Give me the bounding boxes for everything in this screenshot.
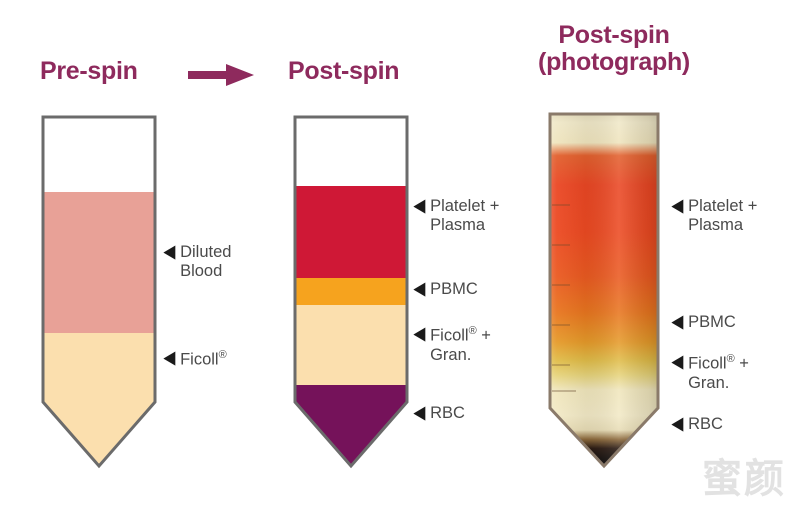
heading-photograph-line2: (photograph) <box>524 49 704 76</box>
left-triangle-marker-icon: ◀ <box>672 313 683 332</box>
layer-air-space <box>38 114 160 192</box>
watermark: 蜜颜 <box>702 446 786 504</box>
spin-arrow-icon <box>186 62 256 88</box>
callout-line-2: Blood <box>180 262 231 281</box>
registered-trademark-icon: ® <box>727 353 735 365</box>
heading-photograph-line1: Post-spin <box>558 21 669 49</box>
layer-diluted-blood <box>38 192 160 333</box>
pre-spin-tube <box>38 114 160 474</box>
callout-ficoll-text: Ficoll® <box>180 349 227 370</box>
callout-line-1: Ficoll <box>180 351 219 369</box>
left-triangle-marker-icon: ◀ <box>672 353 683 372</box>
callout-ficoll-gran: ◀ Ficoll® + Gran. <box>413 325 491 365</box>
left-triangle-marker-icon: ◀ <box>414 197 425 216</box>
callout-photo-platelet-plasma: ◀ Platelet + Plasma <box>671 197 757 236</box>
callout-photo-platelet-plasma-text: Platelet + Plasma <box>688 197 757 236</box>
registered-trademark-icon: ® <box>219 349 227 361</box>
callout-line-1: Ficoll <box>430 327 469 345</box>
callout-line-1: PBMC <box>430 280 478 298</box>
callout-line-1: RBC <box>430 404 465 422</box>
heading-post-spin: Post-spin <box>288 58 399 85</box>
callout-line-1-suffix: + <box>735 355 749 373</box>
callout-platelet-plasma: ◀ Platelet + Plasma <box>413 197 499 236</box>
callout-diluted-blood-text: Diluted Blood <box>180 243 231 282</box>
heading-pre-spin: Pre-spin <box>40 58 138 85</box>
callout-line-1: PBMC <box>688 313 736 331</box>
callout-photo-ficoll-gran-text: Ficoll® + Gran. <box>688 353 749 393</box>
left-triangle-marker-icon: ◀ <box>672 415 683 434</box>
callout-photo-ficoll-gran: ◀ Ficoll® + Gran. <box>671 353 749 393</box>
layer-ficoll-gran <box>290 305 412 385</box>
callout-line-2: Plasma <box>430 216 499 235</box>
callout-line-1: Diluted <box>180 243 231 261</box>
registered-trademark-icon: ® <box>469 325 477 337</box>
callout-line-1-suffix: + <box>477 327 491 345</box>
heading-post-spin-photograph: Post-spin (photograph) <box>524 22 704 76</box>
callout-line-1: Ficoll <box>688 355 727 373</box>
left-triangle-marker-icon: ◀ <box>672 197 683 216</box>
callout-platelet-plasma-text: Platelet + Plasma <box>430 197 499 236</box>
callout-line-1: RBC <box>688 415 723 433</box>
callout-line-1: Platelet + <box>430 197 499 215</box>
callout-pbmc-text: PBMC <box>430 280 478 299</box>
left-triangle-marker-icon: ◀ <box>164 349 175 368</box>
callout-rbc: ◀ RBC <box>413 404 465 423</box>
callout-photo-pbmc-text: PBMC <box>688 313 736 332</box>
callout-diluted-blood: ◀ Diluted Blood <box>163 243 231 282</box>
callout-pbmc: ◀ PBMC <box>413 280 478 299</box>
diagram-canvas: Pre-spin Post-spin Post-spin (photograph… <box>0 0 800 512</box>
left-triangle-marker-icon: ◀ <box>164 243 175 262</box>
left-triangle-marker-icon: ◀ <box>414 280 425 299</box>
layer-air-space <box>290 114 412 186</box>
callout-line-2: Plasma <box>688 216 757 235</box>
callout-photo-pbmc: ◀ PBMC <box>671 313 736 332</box>
photograph-tube <box>542 108 666 474</box>
callout-rbc-text: RBC <box>430 404 465 423</box>
callout-line-2: Gran. <box>430 346 491 365</box>
layer-rbc <box>290 385 412 474</box>
layer-pbmc <box>290 278 412 305</box>
layer-ficoll <box>38 333 160 474</box>
callout-ficoll: ◀ Ficoll® <box>163 349 227 370</box>
callout-line-2: Gran. <box>688 374 749 393</box>
left-triangle-marker-icon: ◀ <box>414 404 425 423</box>
layer-platelet-plasma <box>290 186 412 278</box>
callout-photo-rbc: ◀ RBC <box>671 415 723 434</box>
left-triangle-marker-icon: ◀ <box>414 325 425 344</box>
callout-ficoll-gran-text: Ficoll® + Gran. <box>430 325 491 365</box>
post-spin-tube <box>290 114 412 474</box>
callout-photo-rbc-text: RBC <box>688 415 723 434</box>
callout-line-1: Platelet + <box>688 197 757 215</box>
